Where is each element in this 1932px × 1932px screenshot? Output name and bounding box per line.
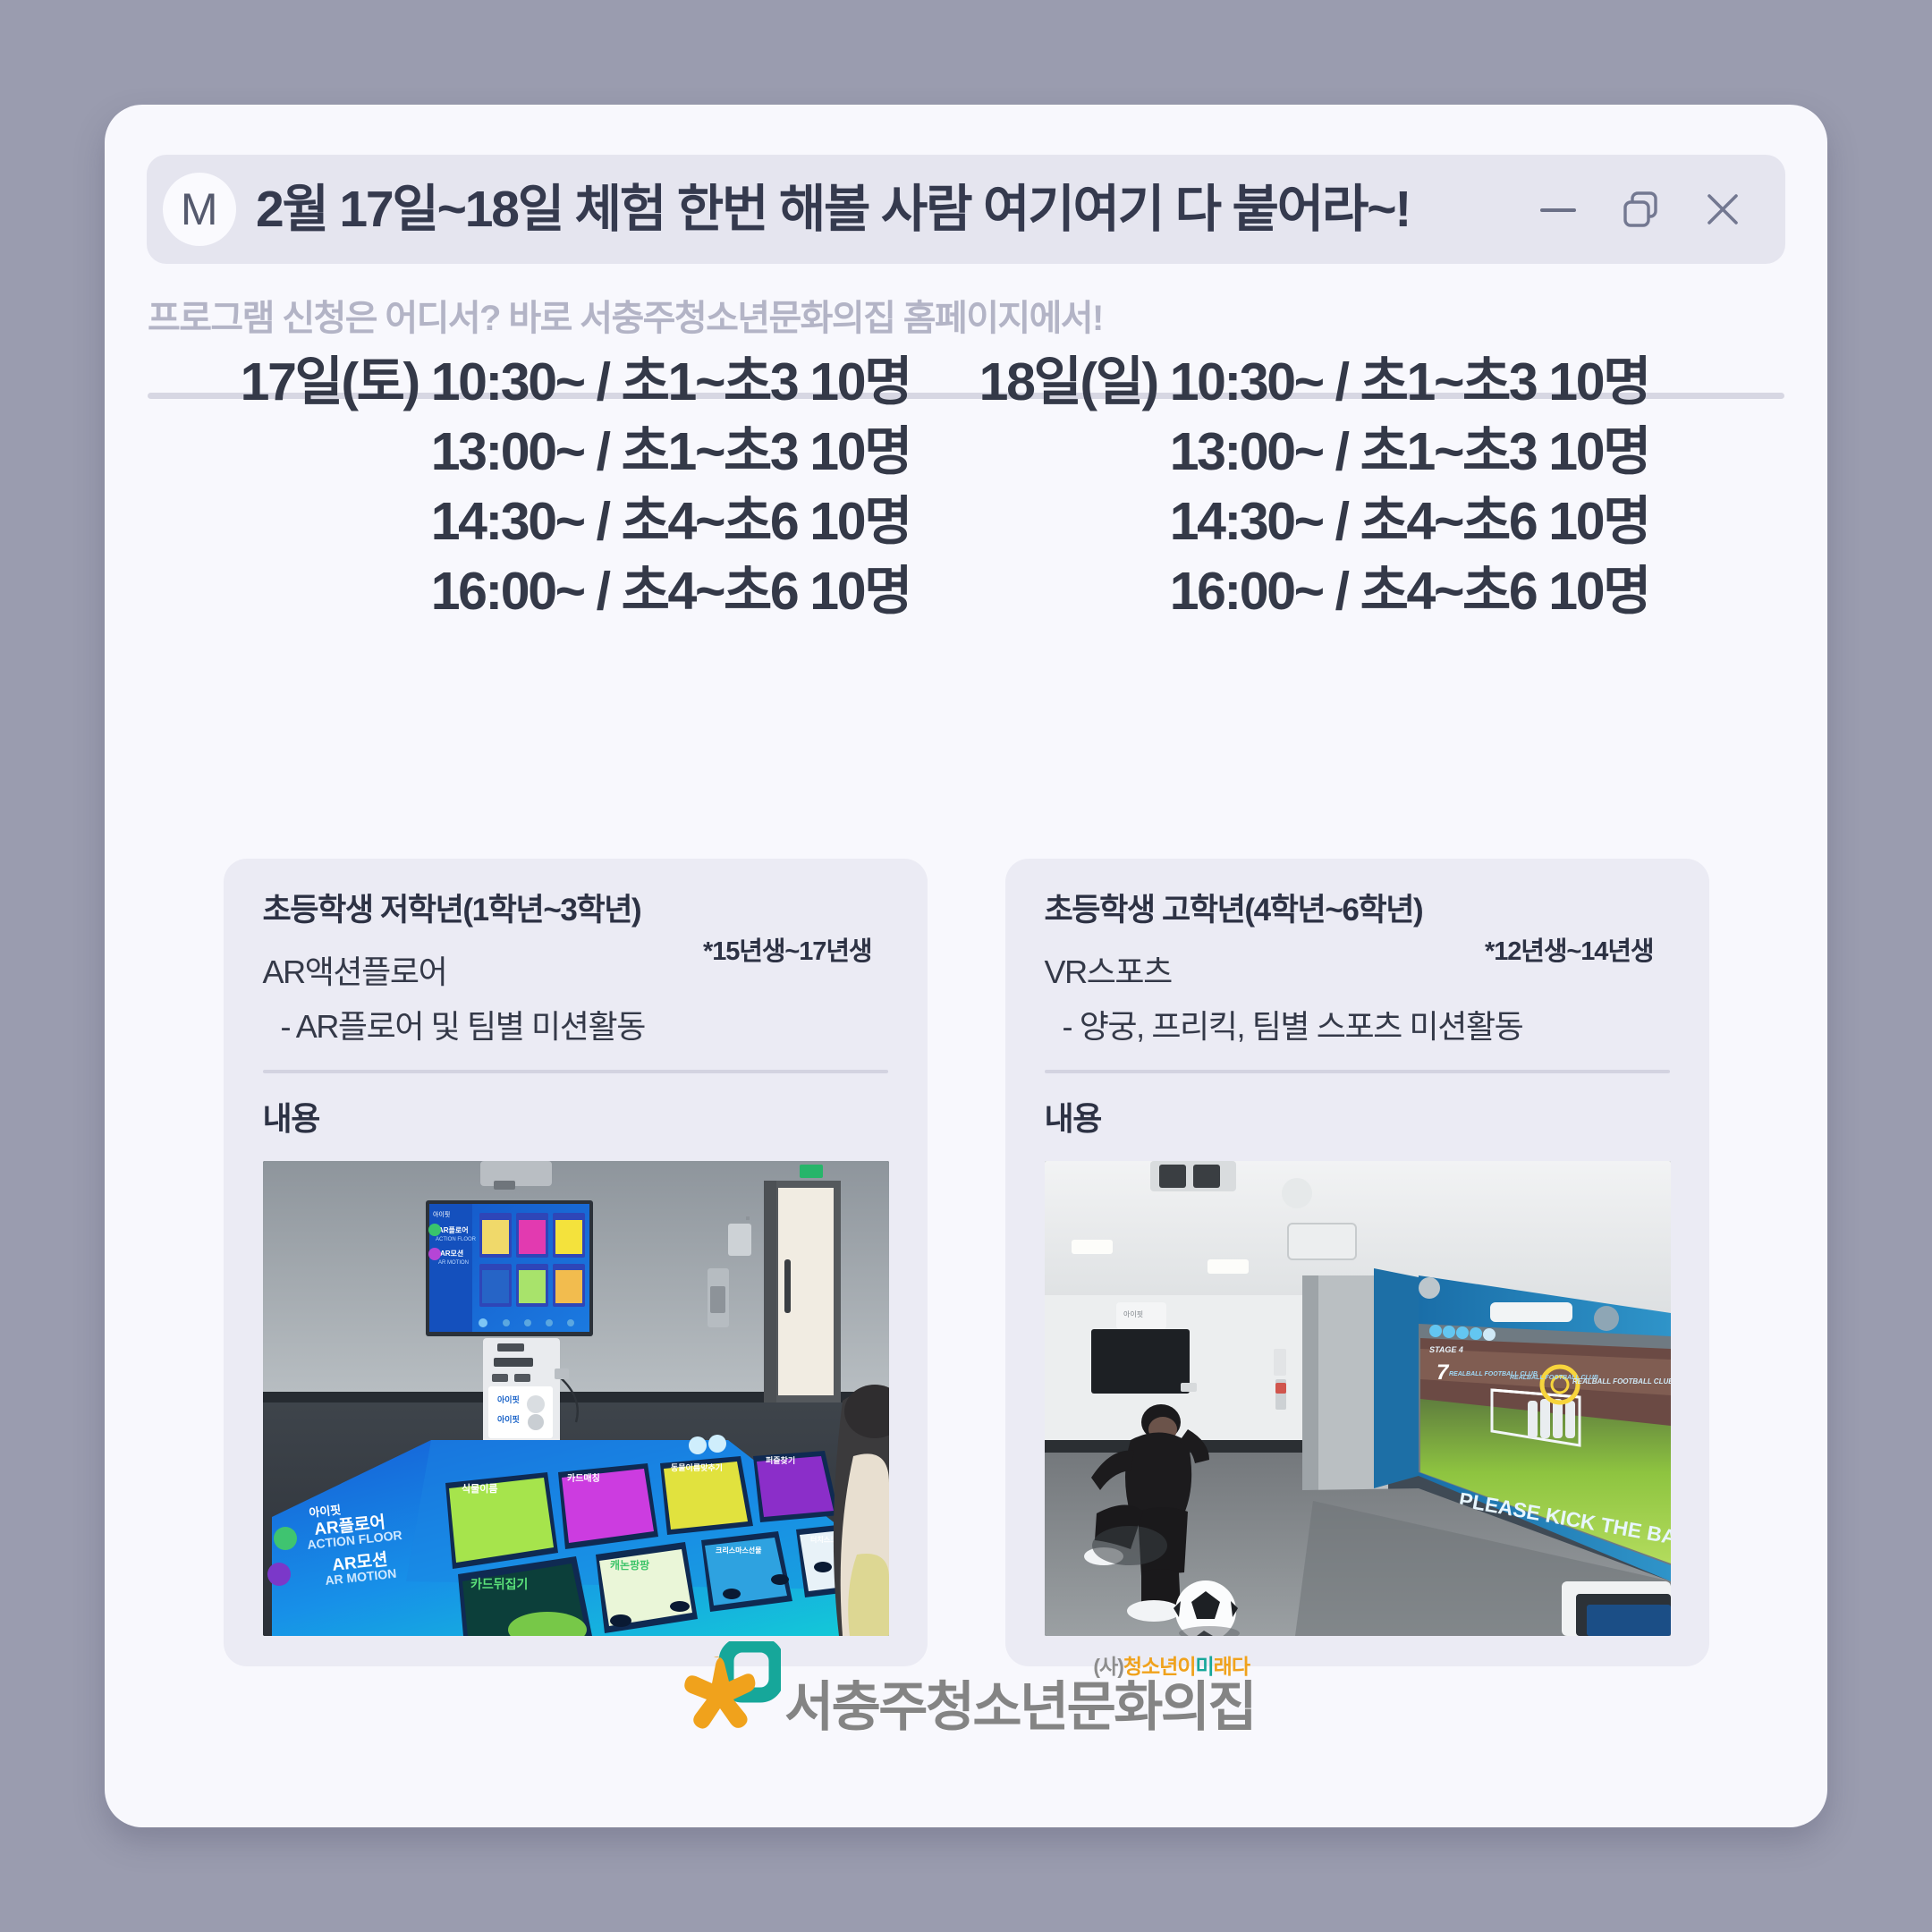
footer-logo: (사)청소년이미래다 서충주청소년문화의집 [105,1641,1827,1734]
logo-star-icon [677,1641,781,1734]
card-divider [1045,1070,1670,1073]
svg-text:아이핏: 아이핏 [433,1210,450,1218]
svg-text:퍼즐찾기: 퍼즐찾기 [766,1455,795,1465]
schedule-row: 14:30~ / 초4~초6 10명 [229,487,911,557]
svg-text:REALBALL FOOTBALL CLUB: REALBALL FOOTBALL CLUB [1572,1377,1671,1385]
content-label: 내용 [1045,1093,1670,1140]
svg-text:아이핏: 아이핏 [1123,1309,1143,1318]
logo-tagline-teal: 미 [1196,1655,1214,1678]
minimize-icon[interactable] [1517,168,1599,250]
svg-text:AR MOTION: AR MOTION [438,1260,469,1266]
svg-text:캐논팡팡: 캐논팡팡 [610,1558,649,1572]
schedule-row: 16:00~ / 초4~초6 10명 [229,557,911,627]
svg-text:카드뒤집기: 카드뒤집기 [470,1577,528,1591]
window-titlebar: M 2월 17일~18일 체험 한번 해볼 사람 여기여기 다 붙어라~! [147,155,1785,264]
logo-tagline: (사)청소년이미래다 [1093,1657,1250,1677]
svg-text:식물이름: 식물이름 [462,1482,497,1495]
schedule-column-day18: 18일(일) 10:30~ / 초1~초3 10명 13:00~ / 초1~초3… [966,348,1703,627]
program-detail: - AR플로어 및 팀별 미션활동 [263,1007,888,1046]
copy-icon[interactable] [1599,168,1682,250]
message-window: M 2월 17일~18일 체험 한번 해볼 사람 여기여기 다 붙어라~! [105,105,1827,1827]
logo-tagline-orange2: 래다 [1214,1655,1250,1678]
svg-text:7: 7 [1436,1360,1450,1385]
grade-header: 초등학생 저학년(1학년~3학년) [263,893,888,928]
grade-header: 초등학생 고학년(4학년~6학년) [1045,893,1670,928]
program-detail: - 양궁, 프리킥, 팀별 스포츠 미션활동 [1045,1007,1670,1046]
logo-wrap: (사)청소년이미래다 서충주청소년문화의집 [677,1641,1255,1734]
photo-vr-sports: STAGE 4 7 REALBALL FOOTBALL CLUB REALBAL… [1045,1161,1671,1636]
program-cards: 초등학생 저학년(1학년~3학년) *15년생~17년생 AR액션플로어 - A… [105,859,1827,1666]
svg-text:카드매칭: 카드매칭 [567,1472,600,1484]
svg-text:동물이름맞추기: 동물이름맞추기 [671,1462,723,1472]
schedule-column-day17: 17일(토) 10:30~ / 초1~초3 10명 13:00~ / 초1~초3… [229,348,966,627]
schedule-row: 18일(일) 10:30~ / 초1~초3 10명 [966,348,1649,418]
schedule-row: 14:30~ / 초4~초6 10명 [966,487,1649,557]
avatar-initial: M [181,187,218,232]
schedule-block: 17일(토) 10:30~ / 초1~초3 10명 13:00~ / 초1~초3… [105,348,1827,627]
svg-text:아이핏: 아이핏 [497,1394,520,1404]
svg-text:아이핏: 아이핏 [497,1414,520,1424]
page-title: 2월 17일~18일 체험 한번 해볼 사람 여기여기 다 붙어라~! [256,182,1517,238]
svg-text:AR플로어: AR플로어 [438,1225,469,1234]
logo-tagline-prefix: (사) [1093,1655,1123,1678]
schedule-row: 13:00~ / 초1~초3 10명 [229,418,911,487]
schedule-row: 17일(토) 10:30~ / 초1~초3 10명 [229,348,911,418]
photo-ar-action-floor: 아이핏 AR플로어 ACTION FLOOR AR모션 AR MOTION [263,1161,889,1636]
schedule-row: 16:00~ / 초4~초6 10명 [966,557,1649,627]
logo-org-name: 서충주청소년문화의집 [784,1681,1255,1734]
subtitle-text: 프로그램 신청은 어디서? 바로 서충주청소년문화의집 홈페이지에서! [148,289,1722,341]
svg-text:크리스마스선물: 크리스마스선물 [716,1546,762,1555]
program-card-lower-grades: 초등학생 저학년(1학년~3학년) *15년생~17년생 AR액션플로어 - A… [224,859,928,1666]
logo-text: (사)청소년이미래다 서충주청소년문화의집 [784,1657,1255,1734]
svg-text:STAGE 4: STAGE 4 [1429,1345,1463,1354]
program-card-upper-grades: 초등학생 고학년(4학년~6학년) *12년생~14년생 VR스포츠 - 양궁,… [1005,859,1709,1666]
close-icon[interactable] [1682,168,1764,250]
svg-text:AR모션: AR모션 [440,1249,463,1258]
screenshot-root: M 2월 17일~18일 체험 한번 해볼 사람 여기여기 다 붙어라~! [0,0,1932,1932]
card-divider [263,1070,888,1073]
schedule-row: 13:00~ / 초1~초3 10명 [966,418,1649,487]
content-label: 내용 [263,1093,888,1140]
svg-text:ACTION FLOOR: ACTION FLOOR [436,1237,477,1242]
logo-tagline-orange: 청소년이 [1123,1655,1196,1678]
avatar: M [163,173,236,246]
window-controls [1517,168,1764,250]
